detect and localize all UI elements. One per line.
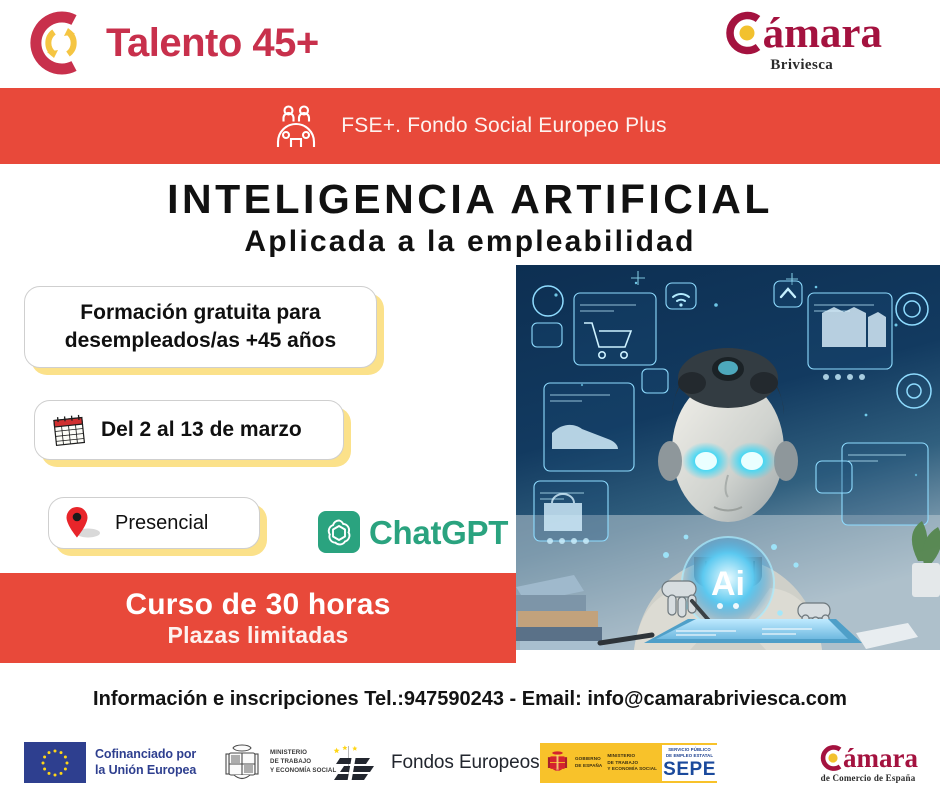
sepe-ministry-label: MINISTERIO DE TRABAJO Y ECONOMÍA SOCIAL xyxy=(607,753,657,774)
ministry-label: MINISTERIO DE TRABAJO Y ECONOMÍA SOCIAL xyxy=(270,749,336,776)
talento-wordmark: Talento 45+ xyxy=(106,23,319,63)
ai-robot-illustration: Ai xyxy=(516,265,940,650)
sepe-ministry-line1: MINISTERIO xyxy=(607,753,657,760)
camara-c-icon xyxy=(722,10,768,56)
camara-c-footer-icon xyxy=(818,744,846,772)
card-free-training: Formación gratuita para desempleados/as … xyxy=(24,286,377,368)
chatgpt-logo: ChatGPT xyxy=(318,511,508,553)
ai-robot-photo: Ai xyxy=(516,265,940,650)
ministry-line1: MINISTERIO xyxy=(270,749,336,758)
talento-cycle-icon xyxy=(22,8,92,78)
sepe-gobierno-line1: GOBIERNO xyxy=(575,756,602,763)
curso-hours-label: Curso de 30 horas xyxy=(125,588,390,621)
sepe-gobierno-label: GOBIERNO DE ESPAÑA xyxy=(575,756,602,770)
eu-cofinance-logo: Cofinanciado por la Unión Europea xyxy=(24,742,196,783)
camara-wordmark: ámara xyxy=(763,12,882,55)
card-dates-label: Del 2 al 13 de marzo xyxy=(101,418,302,442)
ministry-line3: Y ECONOMÍA SOCIAL xyxy=(270,767,336,776)
ministry-line2: DE TRABAJO xyxy=(270,758,336,767)
chatgpt-label: ChatGPT xyxy=(369,516,508,549)
sepe-gobierno-line2: DE ESPAÑA xyxy=(575,763,602,770)
fondos-europeos-label: Fondos Europeos xyxy=(391,752,540,774)
camara-comercio-logo: ámara de Comercio de España xyxy=(818,744,918,783)
page-header: Talento 45+ ámara Briviesca xyxy=(0,0,940,88)
page-footer: Cofinanciado por la Unión Europea MINIST… xyxy=(0,738,940,788)
map-pin-icon xyxy=(61,504,105,542)
sepe-badge-subtitle: SERVICIO PÚBLICO DE EMPLEO ESTATAL xyxy=(666,747,713,759)
contact-line: Información e inscripciones Tel.:9475902… xyxy=(0,688,940,711)
page-title: INTELIGENCIA ARTIFICIAL xyxy=(0,178,940,221)
fse-banner-label: FSE+. Fondo Social Europeo Plus xyxy=(341,114,666,138)
eu-cofinance-line1: Cofinanciado por xyxy=(95,747,196,763)
group-people-icon xyxy=(273,103,319,149)
sepe-logo-block: GOBIERNO DE ESPAÑA MINISTERIO DE TRABAJO… xyxy=(540,743,717,783)
fondos-europeos-icon xyxy=(330,744,382,782)
page-subtitle: Aplicada a la empleabilidad xyxy=(0,226,940,258)
camara-briviesca-logo: ámara Briviesca xyxy=(722,10,882,74)
sepe-badge-word: SEPE xyxy=(663,760,716,779)
spain-coat-of-arms-icon xyxy=(220,742,264,783)
talento-logo: Talento 45+ xyxy=(22,8,319,78)
card-modality-label: Presencial xyxy=(115,512,208,535)
openai-knot-icon xyxy=(318,511,360,553)
camara-city-label: Briviesca xyxy=(722,57,882,74)
sepe-ministry-line3: Y ECONOMÍA SOCIAL xyxy=(607,766,657,773)
camara-footer-wordmark: ámara xyxy=(843,745,918,772)
card-free-training-label: Formación gratuita para desempleados/as … xyxy=(41,299,360,354)
calendar-icon xyxy=(49,410,89,450)
svg-text:Ai: Ai xyxy=(711,565,745,603)
fse-banner: FSE+. Fondo Social Europeo Plus xyxy=(0,88,940,164)
card-modality: Presencial xyxy=(48,497,260,549)
card-dates: Del 2 al 13 de marzo xyxy=(34,400,344,460)
eu-cofinance-line2: la Unión Europea xyxy=(95,763,196,779)
eu-flag-icon xyxy=(24,742,86,783)
eu-cofinance-label: Cofinanciado por la Unión Europea xyxy=(95,747,196,778)
sepe-badge: SERVICIO PÚBLICO DE EMPLEO ESTATAL SEPE xyxy=(662,745,717,781)
curso-limited-label: Plazas limitadas xyxy=(168,623,349,648)
camara-footer-sub: de Comercio de España xyxy=(818,773,918,783)
curso-banner: Curso de 30 horas Plazas limitadas xyxy=(0,573,516,663)
spain-coat-of-arms-small-icon xyxy=(545,748,570,778)
fondos-europeos-logo: Fondos Europeos xyxy=(330,744,540,782)
